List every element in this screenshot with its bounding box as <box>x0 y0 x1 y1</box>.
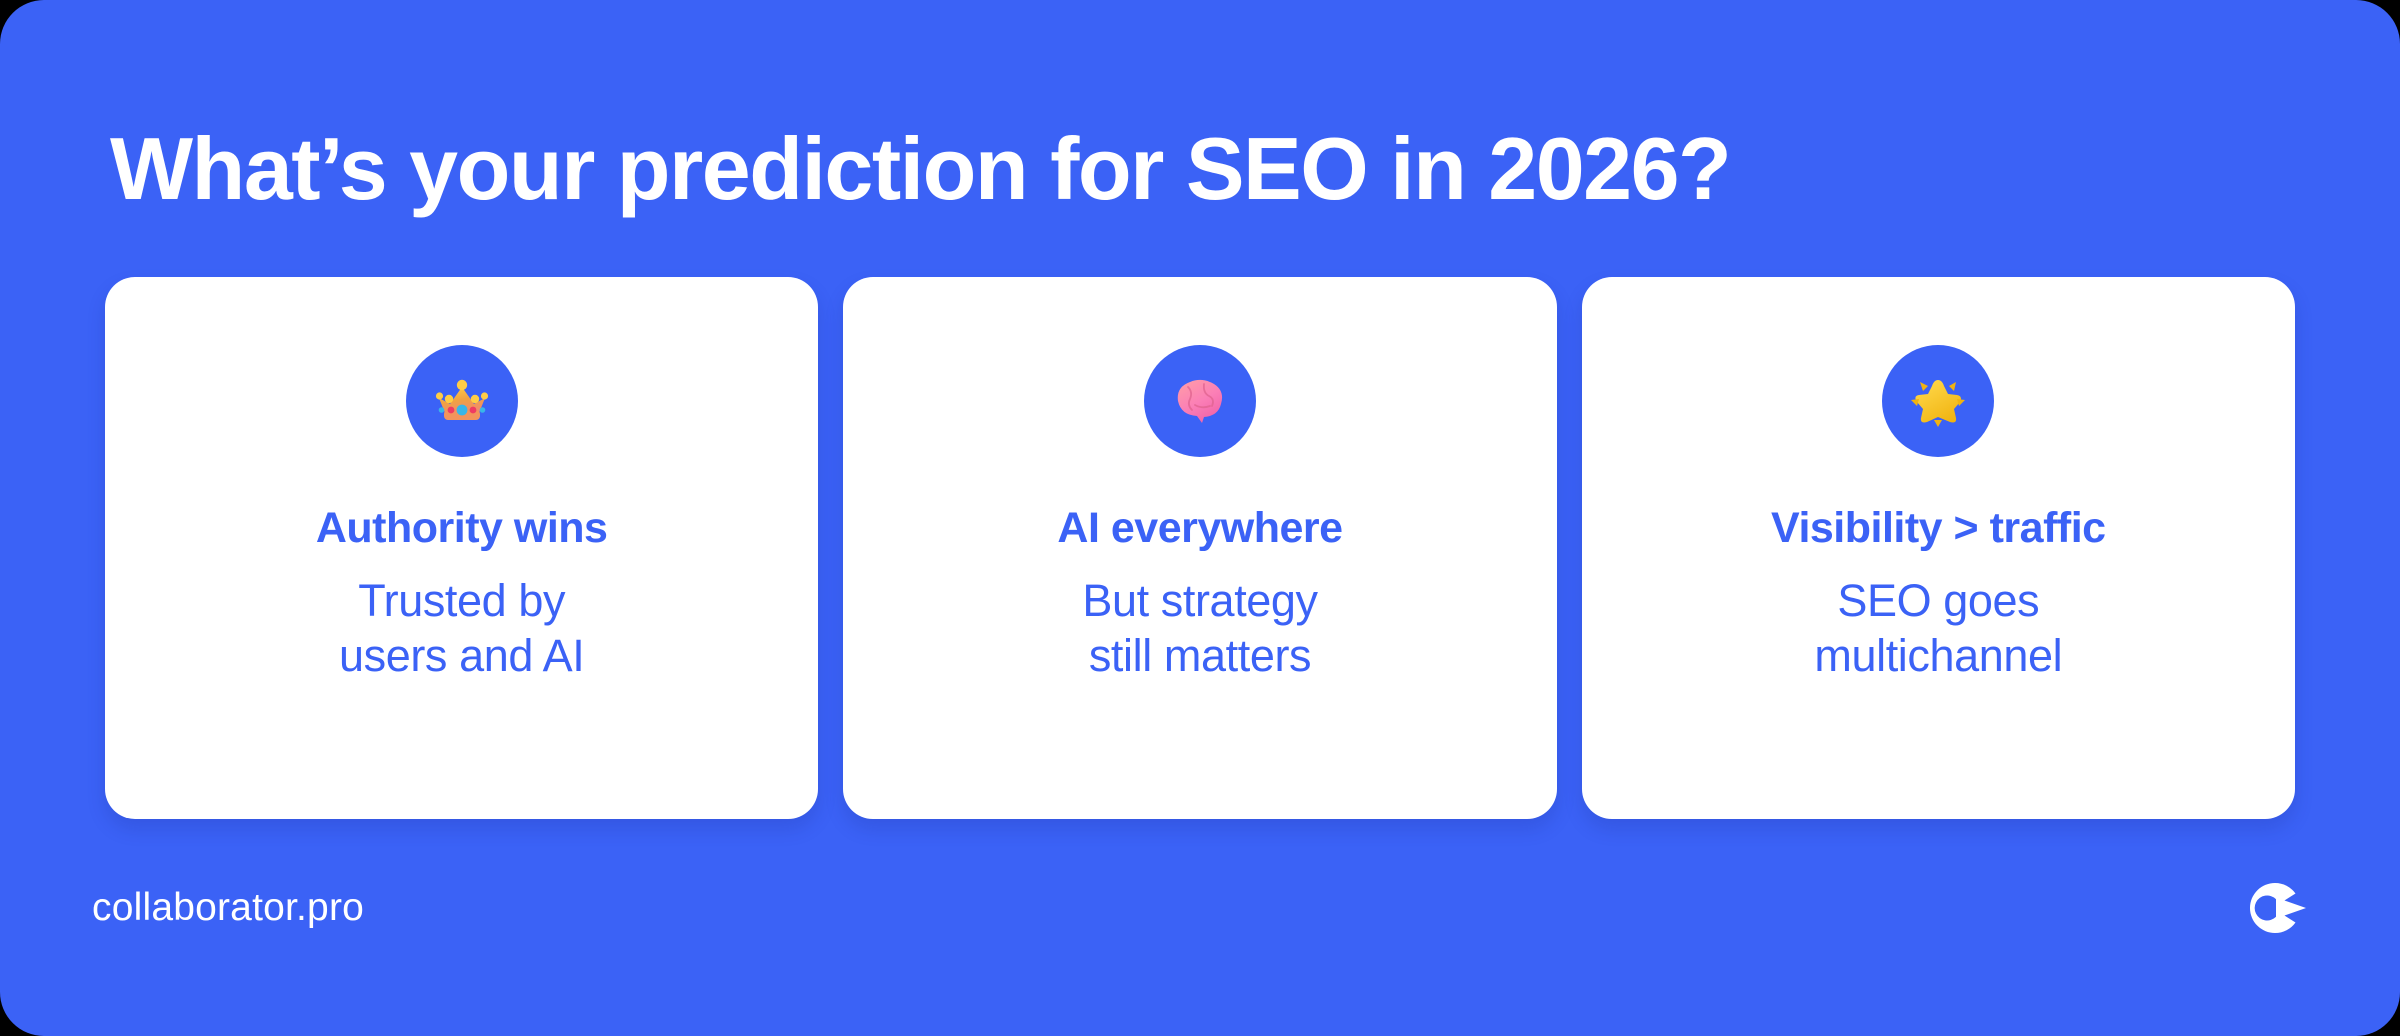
infographic-canvas: What’s your prediction for SEO in 2026? <box>0 0 2400 1036</box>
footer: collaborator.pro <box>0 819 2400 1036</box>
prediction-card-list: Authority wins Trusted by users and AI <box>105 277 2295 819</box>
card-body-text: But strategy still matters <box>1058 574 1341 684</box>
collaborator-logo-icon[interactable] <box>2242 880 2308 936</box>
glowing-star-emoji-icon <box>1902 365 1974 437</box>
brain-emoji-icon <box>1164 365 1236 437</box>
page-title: What’s your prediction for SEO in 2026? <box>110 121 2260 218</box>
icon-badge <box>406 345 518 457</box>
prediction-card[interactable]: AI everywhere But strategy still matters <box>843 277 1556 819</box>
card-body-text: Trusted by users and AI <box>315 574 608 684</box>
card-heading: AI everywhere <box>1057 505 1342 552</box>
icon-badge <box>1882 345 1994 457</box>
slide-background: What’s your prediction for SEO in 2026? <box>0 0 2400 1036</box>
card-heading: Visibility > traffic <box>1771 505 2106 552</box>
footer-domain-label: collaborator.pro <box>92 886 364 930</box>
prediction-card[interactable]: Visibility > traffic SEO goes multichann… <box>1582 277 2295 819</box>
icon-badge <box>1144 345 1256 457</box>
prediction-card[interactable]: Authority wins Trusted by users and AI <box>105 277 818 819</box>
card-body-text: SEO goes multichannel <box>1790 574 2086 684</box>
card-heading: Authority wins <box>316 505 608 552</box>
crown-emoji-icon <box>426 365 498 437</box>
